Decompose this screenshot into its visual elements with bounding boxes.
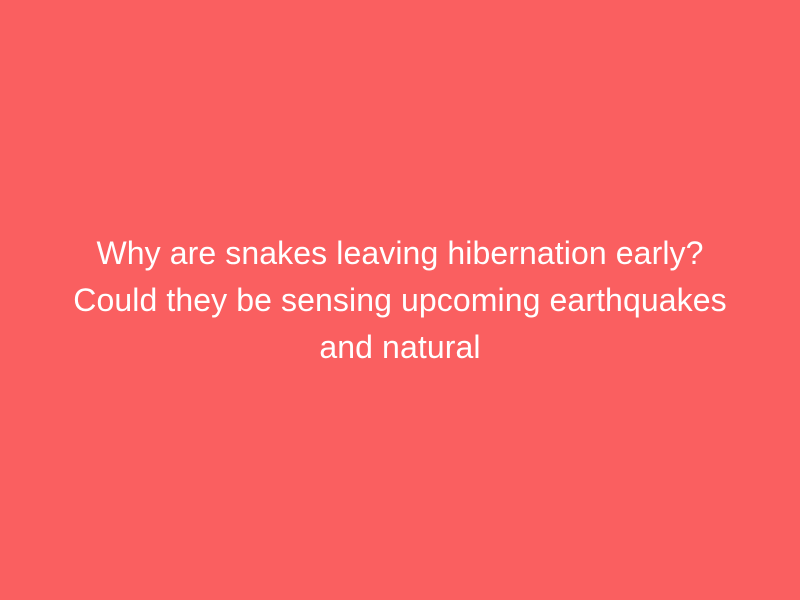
headline-card: Why are snakes leaving hibernation early… bbox=[0, 0, 800, 600]
page-title: Why are snakes leaving hibernation early… bbox=[50, 230, 750, 371]
